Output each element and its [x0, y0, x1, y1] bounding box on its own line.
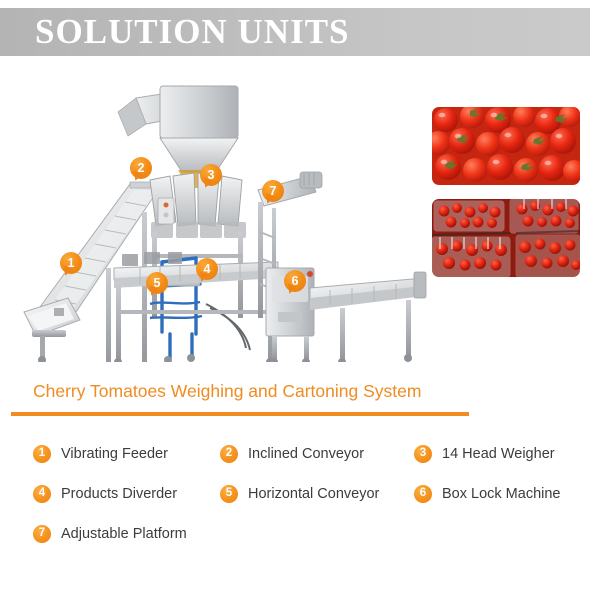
legend-item-5[interactable]: 5 Horizontal Conveyor	[220, 485, 379, 503]
legend-item-4[interactable]: 4 Products Diverder	[33, 485, 177, 503]
callout-6: 6	[284, 270, 306, 292]
machine-illustration: 1 2 3 4 5 6 7	[10, 72, 430, 362]
legend-badge-1: 1	[33, 445, 51, 463]
legend-item-6[interactable]: 6 Box Lock Machine	[414, 485, 560, 503]
legend-item-2[interactable]: 2 Inclined Conveyor	[220, 445, 364, 463]
callout-number: 3	[208, 169, 215, 182]
legend-label-2: Inclined Conveyor	[248, 446, 364, 462]
legend-badge-6: 6	[414, 485, 432, 503]
legend-badge-2: 2	[220, 445, 238, 463]
legend-item-3[interactable]: 3 14 Head Weigher	[414, 445, 555, 463]
legend-badge-5: 5	[220, 485, 238, 503]
callout-3: 3	[200, 164, 222, 186]
legend-item-7[interactable]: 7 Adjustable Platform	[33, 525, 187, 543]
callout-5: 5	[146, 272, 168, 294]
vibrating-feeder-graphic	[24, 298, 80, 362]
legend-badge-3: 3	[414, 445, 432, 463]
callout-1: 1	[60, 252, 82, 274]
caption-title: Cherry Tomatoes Weighing and Cartoning S…	[33, 381, 421, 402]
callout-number: 1	[68, 257, 75, 270]
callout-4: 4	[196, 258, 218, 280]
solution-units-page: SOLUTION UNITS	[0, 0, 600, 600]
legend-label-6: Box Lock Machine	[442, 486, 560, 502]
legend-label-4: Products Diverder	[61, 486, 177, 502]
legend-item-1[interactable]: 1 Vibrating Feeder	[33, 445, 168, 463]
legend-label-1: Vibrating Feeder	[61, 446, 168, 462]
legend-badge-4: 4	[33, 485, 51, 503]
callout-number: 4	[204, 263, 211, 276]
legend-label-3: 14 Head Weigher	[442, 446, 555, 462]
callout-number: 6	[292, 275, 299, 288]
callout-7: 7	[262, 180, 284, 202]
legend-label-5: Horizontal Conveyor	[248, 486, 379, 502]
callout-2: 2	[130, 157, 152, 179]
outfeed-conveyor-graphic	[310, 272, 426, 362]
callout-number: 7	[270, 185, 277, 198]
product-photo-loose-tomatoes	[432, 107, 580, 185]
legend-list: 1 Vibrating Feeder 2 Inclined Conveyor 3…	[0, 440, 600, 560]
legend-badge-7: 7	[33, 525, 51, 543]
product-photo-packed-tomatoes	[432, 199, 580, 277]
callout-number: 5	[154, 277, 161, 290]
callout-number: 2	[138, 162, 145, 175]
page-title: SOLUTION UNITS	[35, 10, 350, 54]
legend-label-7: Adjustable Platform	[61, 526, 187, 542]
caption-divider	[11, 412, 469, 416]
